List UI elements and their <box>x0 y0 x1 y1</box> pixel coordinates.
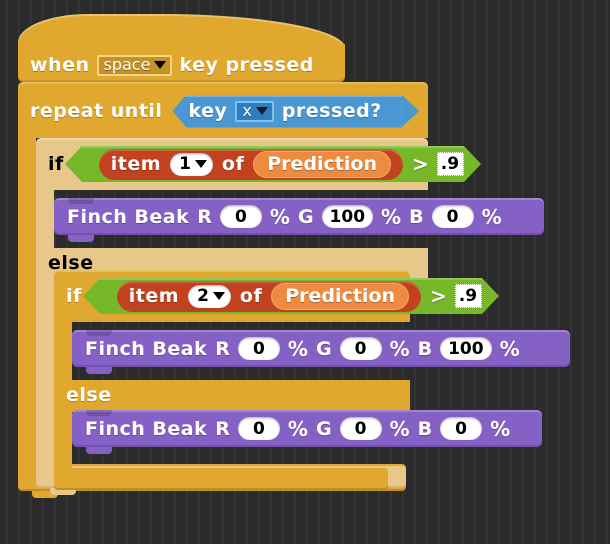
key-boolean-value: x <box>242 101 251 120</box>
percent-sign-b: % <box>490 417 510 441</box>
blue-channel-label: B <box>409 206 423 228</box>
red-channel-label: R <box>197 206 212 228</box>
hat-block-dome <box>18 14 345 48</box>
greater-than-operator-block-outer[interactable]: item 1 of Prediction > .9 <box>82 146 464 182</box>
chevron-down-icon <box>154 61 166 69</box>
item-label: item <box>129 285 179 307</box>
finch-beak-inner-then-row: Finch Beak R 0 % G 0 % B 100 % <box>85 334 520 363</box>
key-word-label: key <box>188 100 227 122</box>
if-else-inner-block[interactable]: if item 2 of Prediction > <box>54 270 410 322</box>
if-inner-else-arm <box>54 412 72 468</box>
block-bottom-notch <box>86 367 112 374</box>
blue-channel-input[interactable]: 0 <box>440 417 482 440</box>
red-channel-label: R <box>215 338 230 360</box>
green-channel-label: G <box>298 206 314 228</box>
block-bottom-notch <box>86 447 112 454</box>
else-inner-label: else <box>66 384 112 406</box>
finch-beak-inner-else-row: Finch Beak R 0 % G 0 % B 0 % <box>85 414 510 443</box>
else-inner-bar: else <box>54 380 410 412</box>
greater-than-operator-block-inner[interactable]: item 2 of Prediction > .9 <box>100 278 482 314</box>
block-canvas: when space key pressed repeat until key … <box>0 0 610 544</box>
threshold-input-inner[interactable]: .9 <box>455 284 482 308</box>
list-variable-prediction-inner[interactable]: Prediction <box>271 283 409 310</box>
blue-channel-label: B <box>418 338 432 360</box>
item-label: item <box>111 153 161 175</box>
blue-channel-label: B <box>418 418 432 440</box>
finch-beak-label: Finch Beak <box>85 418 207 440</box>
chevron-down-icon <box>256 107 268 115</box>
if-outer-header: if item 1 of Prediction > <box>36 138 428 190</box>
blue-channel-input[interactable]: 0 <box>432 205 474 228</box>
green-channel-label: G <box>316 418 332 440</box>
of-label: of <box>240 285 262 307</box>
green-channel-label: G <box>316 338 332 360</box>
percent-sign-g: % <box>390 417 410 441</box>
greater-than-sign-outer: > <box>412 152 429 176</box>
red-channel-input[interactable]: 0 <box>220 205 262 228</box>
if-outer-else-arm <box>36 280 54 466</box>
key-select-dropdown[interactable]: space <box>97 55 173 76</box>
green-channel-input[interactable]: 0 <box>340 337 382 360</box>
repeat-left-arm <box>18 138 36 464</box>
repeat-until-block[interactable]: repeat until key x pressed? <box>18 82 428 138</box>
greater-than-sign-inner: > <box>430 284 447 308</box>
item-index-dropdown-inner[interactable]: 2 <box>188 285 231 308</box>
when-key-pressed-hat-block[interactable]: when space key pressed <box>18 14 345 82</box>
finch-beak-outer-then-row: Finch Beak R 0 % G 100 % B 0 % <box>67 202 502 231</box>
block-bottom-notch <box>68 235 94 242</box>
repeat-until-row: repeat until key x pressed? <box>30 94 402 128</box>
if-outer-label: if <box>48 153 64 175</box>
if-inner-label: if <box>66 285 82 307</box>
item-of-list-reporter-inner[interactable]: item 2 of Prediction <box>117 281 421 312</box>
if-inner-header: if item 2 of Prediction > <box>54 270 410 322</box>
percent-sign-b: % <box>500 337 520 361</box>
key-pressed-boolean-block[interactable]: key x pressed? <box>172 95 401 128</box>
if-else-outer-block[interactable]: if item 1 of Prediction > <box>36 138 428 190</box>
if-outer-then-arm <box>36 190 54 248</box>
item-index-value: 1 <box>179 154 191 174</box>
finch-beak-block-outer-then[interactable]: Finch Beak R 0 % G 100 % B 0 % <box>54 198 544 235</box>
finch-beak-label: Finch Beak <box>85 338 207 360</box>
percent-sign-r: % <box>288 417 308 441</box>
if-inner-foot <box>54 468 388 490</box>
of-label: of <box>222 153 244 175</box>
finch-beak-label: Finch Beak <box>67 206 189 228</box>
blue-channel-input[interactable]: 100 <box>440 337 492 360</box>
when-label: when <box>30 54 90 76</box>
red-channel-label: R <box>215 418 230 440</box>
green-channel-input[interactable]: 100 <box>322 205 374 228</box>
percent-sign-r: % <box>288 337 308 361</box>
red-channel-input[interactable]: 0 <box>238 337 280 360</box>
chevron-down-icon <box>195 160 207 168</box>
item-of-list-reporter-outer[interactable]: item 1 of Prediction <box>99 149 403 180</box>
percent-sign-g: % <box>381 205 401 229</box>
red-channel-input[interactable]: 0 <box>238 417 280 440</box>
finch-beak-block-inner-else[interactable]: Finch Beak R 0 % G 0 % B 0 % <box>72 410 542 447</box>
key-select-value: space <box>104 55 151 74</box>
pressed-label: pressed? <box>282 100 382 122</box>
finch-beak-block-inner-then[interactable]: Finch Beak R 0 % G 0 % B 100 % <box>72 330 570 367</box>
key-pressed-label: key pressed <box>179 54 313 76</box>
if-inner-condition-row: if item 2 of Prediction > <box>66 280 482 312</box>
if-outer-condition-row: if item 1 of Prediction > <box>48 148 464 180</box>
chevron-down-icon <box>213 292 225 300</box>
repeat-until-header: repeat until key x pressed? <box>18 82 428 138</box>
percent-sign-r: % <box>270 205 290 229</box>
threshold-input-outer[interactable]: .9 <box>437 152 464 176</box>
percent-sign-g: % <box>390 337 410 361</box>
hat-block-row: when space key pressed <box>30 50 314 80</box>
percent-sign-b: % <box>482 205 502 229</box>
green-channel-input[interactable]: 0 <box>340 417 382 440</box>
item-index-dropdown-outer[interactable]: 1 <box>170 153 213 176</box>
key-boolean-dropdown[interactable]: x <box>235 101 273 122</box>
if-inner-then-arm <box>54 322 72 380</box>
item-index-value: 2 <box>197 286 209 306</box>
list-variable-prediction-outer[interactable]: Prediction <box>253 151 391 178</box>
repeat-until-label: repeat until <box>30 100 162 122</box>
